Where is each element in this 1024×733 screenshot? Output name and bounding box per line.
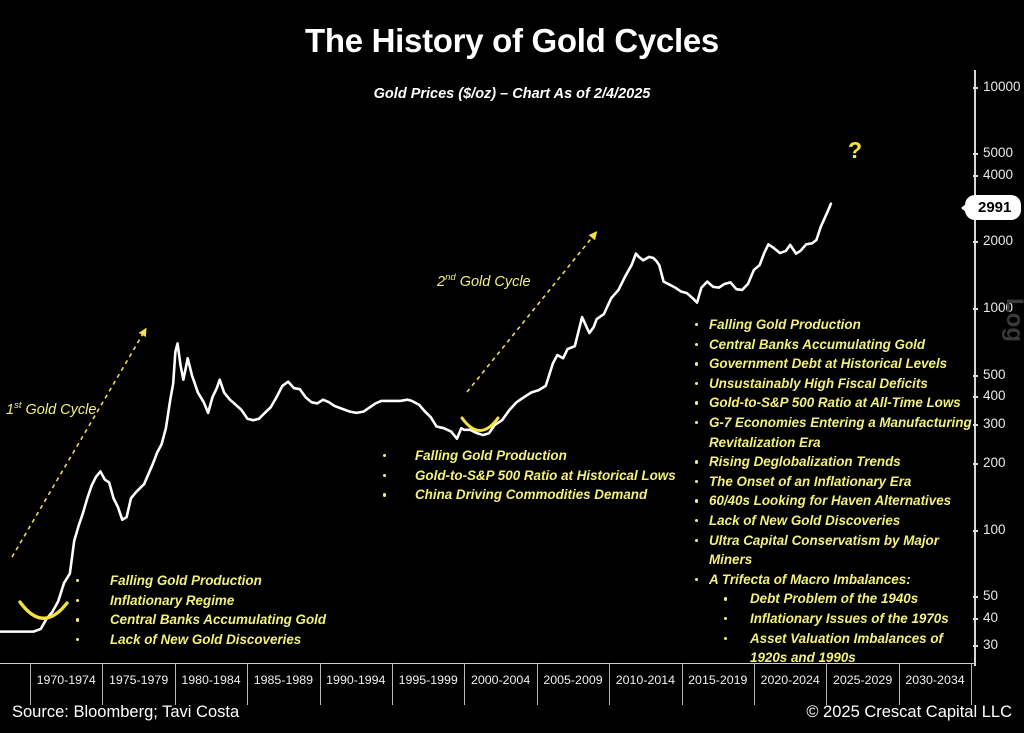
bullet-dot-icon — [695, 460, 698, 463]
bullet-dot-icon — [695, 362, 698, 365]
second-trough-arc — [462, 418, 498, 431]
first-cycle-arrow — [12, 332, 144, 557]
y-axis-tick-mark — [973, 175, 978, 177]
y-axis-tick-label: 50 — [983, 588, 998, 603]
second-cycle-arrow — [467, 235, 594, 392]
x-axis-tick-label: 2020-2024 — [754, 673, 826, 687]
x-axis-tick-label: 1985-1989 — [247, 673, 319, 687]
list-item-label: 60/40s Looking for Haven Alternatives — [709, 491, 951, 511]
current-price-callout: 2991 — [966, 196, 1020, 219]
y-axis-line — [974, 70, 976, 666]
x-axis-tick-label: 1995-1999 — [392, 673, 464, 687]
list-item-label: Miners — [709, 550, 752, 570]
y-axis-tick-mark — [973, 645, 978, 647]
list-item-label: Gold-to-S&P 500 Ratio at All-Time Lows — [709, 393, 961, 413]
future-question-mark: ? — [848, 137, 862, 164]
list-item-label: Lack of New Gold Discoveries — [709, 511, 900, 531]
list-item-label: Unsustainably High Fiscal Deficits — [709, 374, 928, 394]
footer-copyright: © 2025 Crescat Capital LLC — [806, 703, 1012, 722]
y-axis-tick-mark — [973, 153, 978, 155]
second-cycle-ordinal-number: 2 — [437, 274, 445, 290]
y-axis-tick-label: 400 — [983, 388, 1006, 403]
y-axis-tick-mark — [973, 424, 978, 426]
x-axis-tick-label: 2010-2014 — [609, 673, 681, 687]
x-axis-tick-label: 2025-2029 — [826, 673, 898, 687]
y-axis-tick-mark — [973, 596, 978, 598]
y-axis-tick-mark — [973, 87, 978, 89]
list-item-label: China Driving Commodities Demand — [415, 485, 647, 505]
list-item-label: Central Banks Accumulating Gold — [709, 335, 925, 355]
sub-list-item-label: 1920s and 1990s — [750, 648, 856, 668]
x-axis-tick-label: 1990-1994 — [320, 673, 392, 687]
y-axis-tick-mark — [973, 375, 978, 377]
y-axis-tick-label: 30 — [983, 637, 998, 652]
second-cycle-label-text: Gold Cycle — [460, 274, 531, 290]
chart-root: The History of Gold Cycles Gold Prices (… — [0, 0, 1024, 733]
first-gold-cycle-label: 1st Gold Cycle — [6, 400, 96, 418]
x-axis-tick-label: 1975-1979 — [102, 673, 174, 687]
x-axis-tick-label: 2030-2034 — [899, 673, 971, 687]
list-item-label: G-7 Economies Entering a Manufacturing — [709, 413, 972, 433]
list-item-label: Falling Gold Production — [709, 315, 861, 335]
gold-price-series-line — [0, 204, 831, 632]
log-scale-watermark: Log — [1000, 298, 1024, 342]
y-axis-tick-label: 4000 — [983, 167, 1013, 182]
list-item-label: Ultra Capital Conservatism by Major — [709, 531, 939, 551]
y-axis-tick-mark — [973, 308, 978, 310]
y-axis-tick-mark — [973, 618, 978, 620]
y-axis-tick-label: 5000 — [983, 145, 1013, 160]
y-axis-tick-mark — [973, 396, 978, 398]
x-axis-tick-label: 1980-1984 — [175, 673, 247, 687]
list-item-label: Falling Gold Production — [110, 571, 262, 591]
y-axis-tick-label: 2000 — [983, 233, 1013, 248]
sub-list-item-label: Inflationary Issues of the 1970s — [750, 609, 949, 629]
sub-list-item-label: Debt Problem of the 1940s — [750, 589, 918, 609]
first-cycle-label-text: Gold Cycle — [26, 402, 97, 418]
list-item-label: Gold-to-S&P 500 Ratio at Historical Lows — [415, 466, 676, 486]
x-axis-tick-mark — [971, 663, 972, 705]
y-axis-tick-label: 100 — [983, 522, 1006, 537]
y-axis-tick-label: 10000 — [983, 79, 1021, 94]
second-gold-cycle-label: 2nd Gold Cycle — [437, 272, 531, 290]
y-axis-tick-mark — [973, 463, 978, 465]
bullet-dot-icon — [76, 618, 79, 621]
x-axis-tick-label: 2005-2009 — [537, 673, 609, 687]
x-axis-tick-label: 2000-2004 — [464, 673, 536, 687]
y-axis-tick-mark — [973, 241, 978, 243]
page-title: The History of Gold Cycles — [0, 22, 1024, 60]
list-item-label: Revitalization Era — [709, 433, 821, 453]
list-item-label: Lack of New Gold Discoveries — [110, 630, 301, 650]
first-cycle-ordinal-suffix: st — [14, 400, 21, 411]
sub-list-item-label: Asset Valuation Imbalances of — [750, 629, 943, 649]
y-axis-tick-label: 40 — [983, 610, 998, 625]
y-axis-tick-label: 300 — [983, 416, 1006, 431]
x-axis-tick-label: 2015-2019 — [682, 673, 754, 687]
list-item-label: Central Banks Accumulating Gold — [110, 610, 326, 630]
footer-source: Source: Bloomberg; Tavi Costa — [12, 703, 239, 722]
list-item-label: Rising Deglobalization Trends — [709, 452, 901, 472]
first-trough-arc — [20, 602, 67, 618]
list-item-label: A Trifecta of Macro Imbalances: — [709, 570, 911, 590]
y-axis-tick-label: 500 — [983, 367, 1006, 382]
first-cycle-ordinal-number: 1 — [6, 402, 14, 418]
x-axis-tick-label: 1970-1974 — [30, 673, 102, 687]
y-axis-tick-label: 200 — [983, 455, 1006, 470]
x-axis: 1970-19741975-19791980-19841985-19891990… — [0, 663, 976, 705]
list-item-label: The Onset of an Inflationary Era — [709, 472, 911, 492]
bullet-dot-icon — [383, 493, 386, 496]
list-item-label: Government Debt at Historical Levels — [709, 354, 947, 374]
y-axis-tick-mark — [973, 530, 978, 532]
list-item-label: Falling Gold Production — [415, 446, 567, 466]
second-cycle-ordinal-suffix: nd — [445, 272, 456, 283]
list-item-label: Inflationary Regime — [110, 591, 234, 611]
